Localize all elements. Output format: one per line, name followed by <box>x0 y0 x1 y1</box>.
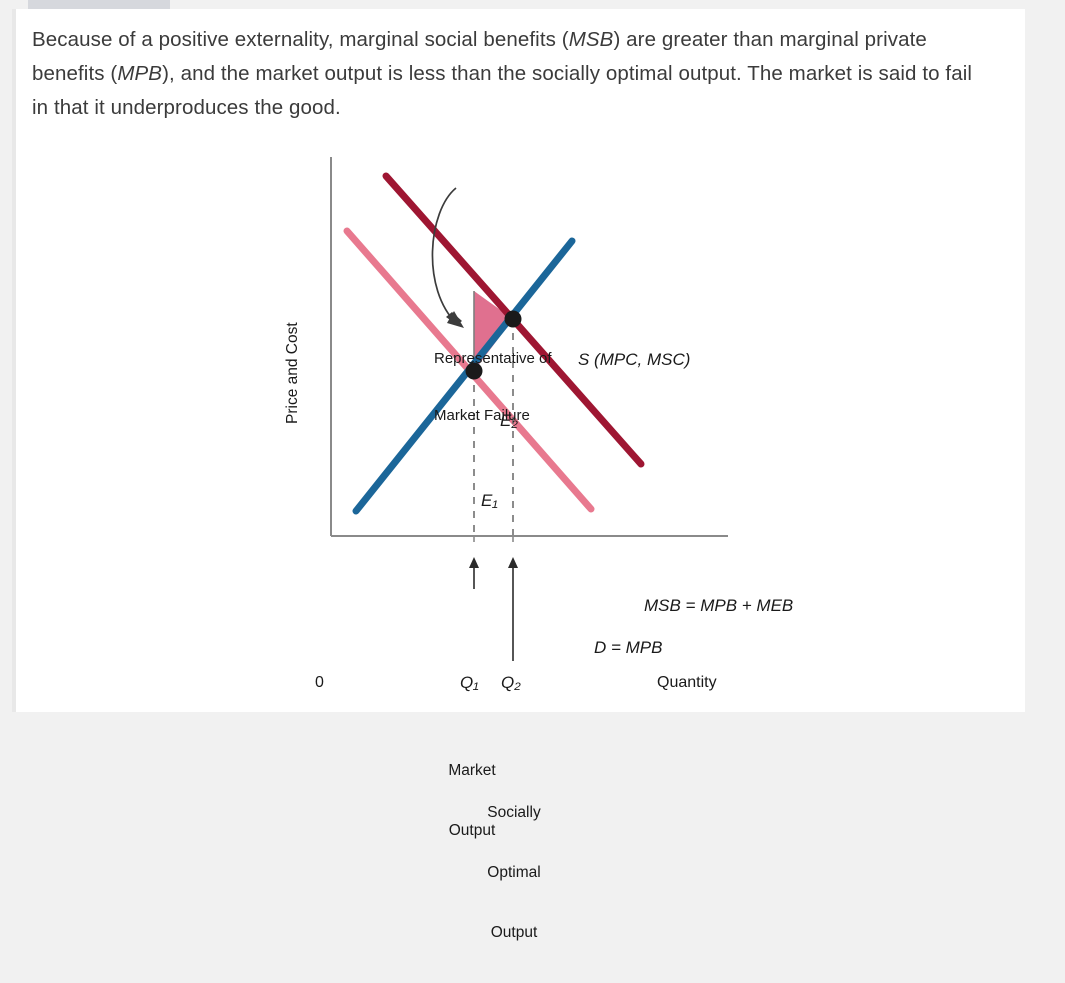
callout-line-2: Market Failure <box>434 406 552 425</box>
x-axis-label: Quantity <box>657 674 717 692</box>
curve-label-supply: S (MPC, MSC) <box>578 350 690 370</box>
y-axis-label: Price and Cost <box>284 264 302 424</box>
tick-label-q2: Q₂ <box>501 673 521 693</box>
callout-line-1: Representative of <box>434 349 552 368</box>
origin-label: 0 <box>315 674 324 692</box>
tick-label-q1: Q₁ <box>460 673 479 693</box>
content-card: Because of a positive externality, margi… <box>12 9 1025 712</box>
point-label-e2: E₂ <box>500 411 518 431</box>
passage-seg-0: Because of a positive externality, margi… <box>32 28 569 51</box>
socially-optimal-line-3: Output <box>478 923 550 943</box>
passage-seg-4: ), and the market output is less than th… <box>32 62 972 119</box>
arrow-market-output-head <box>469 557 479 568</box>
annotation-socially-optimal-output: Socially Optimal Output <box>478 763 550 983</box>
point-label-e1: E₁ <box>481 491 498 511</box>
curve-label-private-benefit: D = MPB <box>594 638 663 658</box>
socially-optimal-line-2: Optimal <box>478 863 550 883</box>
passage-seg-msb: MSB <box>569 28 614 51</box>
externality-diagram: Price and Cost Representative of Market … <box>16 139 1029 709</box>
page-root: Because of a positive externality, margi… <box>0 0 1065 712</box>
callout-label: Representative of Market Failure <box>434 311 552 463</box>
top-gray-bar <box>28 0 170 9</box>
passage-seg-mpb: MPB <box>117 62 162 85</box>
socially-optimal-line-1: Socially <box>478 803 550 823</box>
curve-label-social-benefit: MSB = MPB + MEB <box>644 596 793 616</box>
passage-text: Because of a positive externality, margi… <box>32 23 992 125</box>
arrow-socially-optimal-head <box>508 557 518 568</box>
